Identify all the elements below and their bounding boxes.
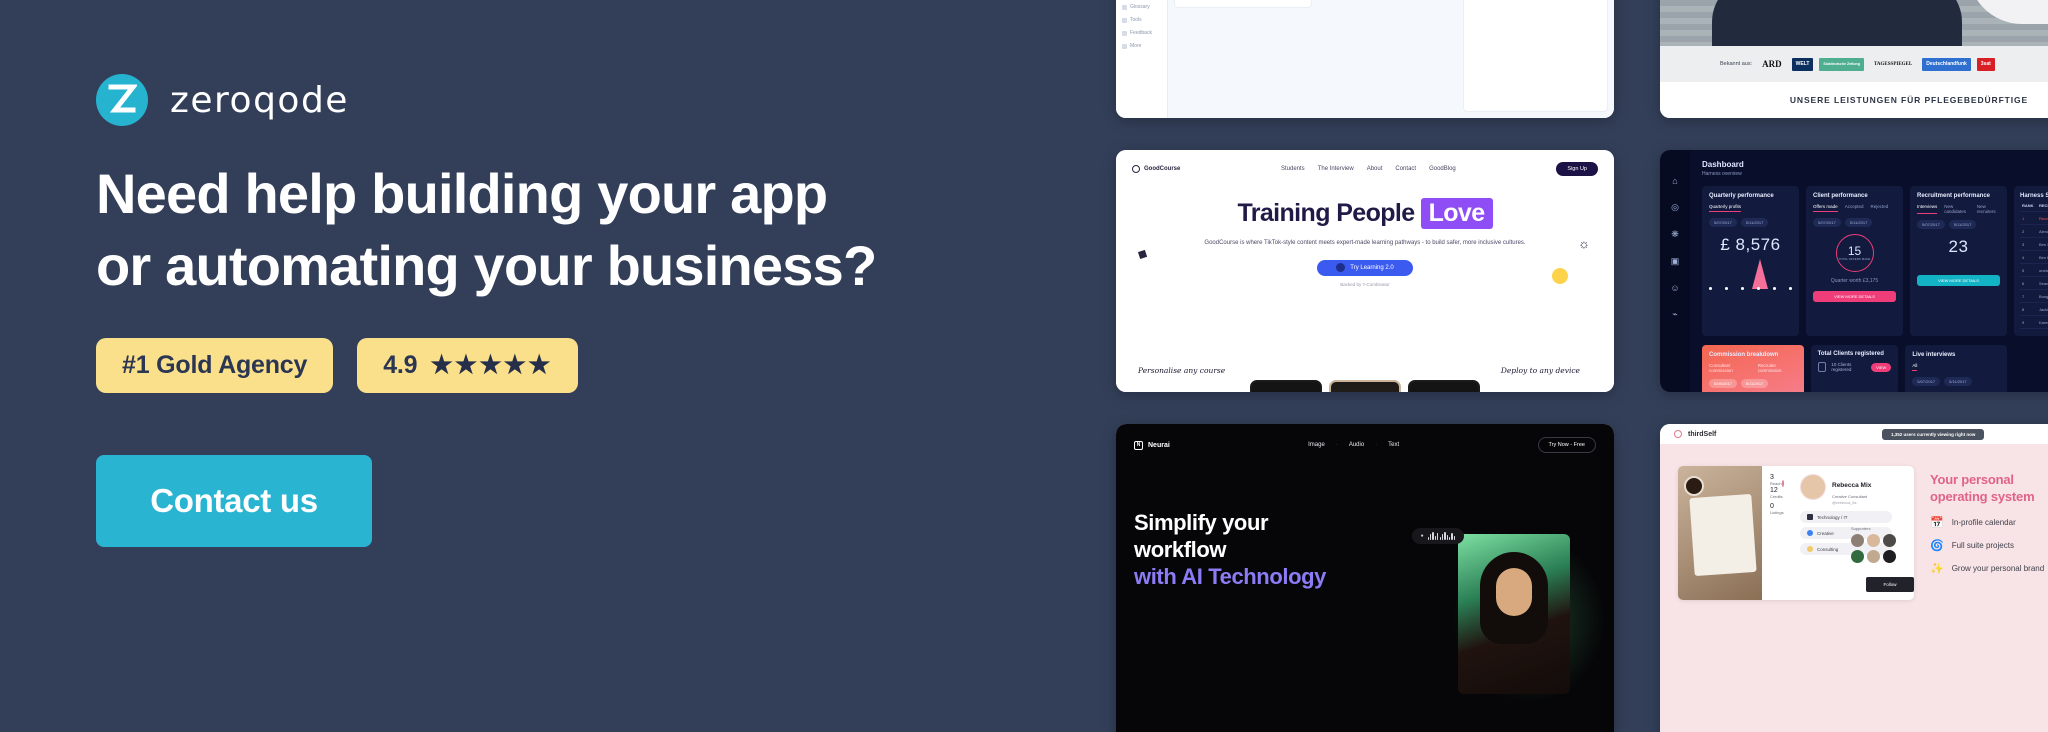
nav-link[interactable]: Students bbox=[1281, 166, 1305, 172]
calendar-icon: 📅 bbox=[1930, 516, 1944, 529]
date-pill[interactable]: 5/11/2017 bbox=[1949, 220, 1977, 229]
card-client-performance: Client performance Offers made Accepted … bbox=[1806, 186, 1903, 336]
thirdself-copy: Your personal operating system 📅 In-prof… bbox=[1930, 466, 2048, 600]
tab[interactable]: Quarterly profits bbox=[1709, 204, 1741, 212]
card-total-clients: Total Clients registered 10 Clients regi… bbox=[1811, 345, 1899, 392]
portrait-image bbox=[1458, 534, 1570, 694]
dashboard-title: Dashboard bbox=[1702, 160, 2048, 169]
neurai-mark-icon: N bbox=[1134, 441, 1143, 450]
table-row: 6Sean bbox=[2020, 277, 2048, 290]
date-pill[interactable]: 5/07/2017 bbox=[1917, 220, 1945, 229]
date-pill[interactable]: 5/11/2017 bbox=[1741, 379, 1769, 388]
tab[interactable]: Rejected bbox=[1870, 204, 1888, 212]
desk-photo bbox=[1678, 466, 1762, 600]
annotation-personalise: Personalise any course bbox=[1138, 366, 1225, 376]
card-recruitment-performance: Recruitment performance Interviews New c… bbox=[1910, 186, 2007, 336]
press-logo-ard: ARD bbox=[1758, 58, 1786, 71]
date-pill[interactable]: 5/07/2017 bbox=[1709, 218, 1737, 227]
pflege-section-title: UNSERE LEISTUNGEN FÜR PFLEGEBEDÜRFTIGE bbox=[1660, 82, 2048, 118]
press-logo-sz: Süddeutsche Zeitung bbox=[1819, 58, 1864, 71]
thirdself-headline: Your personal operating system bbox=[1930, 472, 2048, 506]
neurai-logo[interactable]: N Neurai bbox=[1134, 441, 1170, 450]
goodcourse-nav-links: Students The Interview About Contact Goo… bbox=[1281, 166, 1456, 172]
tab[interactable]: New recruiters bbox=[1977, 204, 2000, 214]
chart-icon[interactable]: ⌁ bbox=[1672, 309, 1677, 320]
phone-mockup bbox=[1329, 380, 1401, 392]
feature-item: ✨ Grow your personal brand bbox=[1930, 562, 2048, 575]
tag[interactable]: Technology / IT bbox=[1800, 511, 1892, 523]
metric-value: £ 8,576 bbox=[1709, 235, 1792, 255]
circle-icon bbox=[1782, 480, 1784, 487]
date-pill[interactable]: 5/09/2017 bbox=[1709, 379, 1737, 388]
profile-handle: @rebecca_its bbox=[1832, 500, 1871, 505]
tab[interactable]: All bbox=[1912, 363, 1917, 371]
known-from-label: Bekannt aus: bbox=[1720, 61, 1752, 67]
phone-mockup: Conscious Inclusion bbox=[1408, 380, 1480, 392]
date-pill[interactable]: 5/07/2017 bbox=[1912, 377, 1940, 386]
portfolio-showcase: Glossary Tools Feedback More Meta$0.87~ … bbox=[1116, 0, 2048, 732]
lightbulb-icon: ☼ bbox=[1578, 236, 1590, 251]
sparkle-icon: ✨ bbox=[1930, 562, 1944, 575]
play-icon bbox=[1336, 263, 1345, 272]
network-icon[interactable]: ❋ bbox=[1671, 229, 1679, 240]
tab[interactable]: Interviews bbox=[1917, 204, 1937, 214]
dashboard-cards-row-2: Commission breakdown Consultant commissi… bbox=[1702, 345, 2048, 392]
people-icon[interactable]: ☺ bbox=[1670, 283, 1679, 293]
portfolio-card-neurai[interactable]: N Neurai Image · Audio · Text Try Now - … bbox=[1116, 424, 1614, 732]
try-learning-button[interactable]: Try Learning 2.0 bbox=[1317, 260, 1413, 276]
feature-item: 🌀 Full suite projects bbox=[1930, 539, 2048, 552]
view-badge[interactable]: VIEW bbox=[1871, 363, 1891, 372]
card-live-interviews: Live interviews All 5/07/2017 5/11/2017 … bbox=[1905, 345, 2007, 392]
badge-rating: 4.9 ★★★★★ bbox=[357, 338, 578, 393]
crypto-sidebar-item[interactable]: More bbox=[1122, 43, 1161, 49]
date-pill[interactable]: 5/11/2017 bbox=[1944, 377, 1972, 386]
zeroqode-mark-icon bbox=[96, 74, 148, 126]
table-row: 5oneta bbox=[2020, 264, 2048, 277]
crypto-sidebar: Glossary Tools Feedback More bbox=[1116, 0, 1168, 118]
circle-icon bbox=[1674, 430, 1682, 438]
profile-stats: 3 Reach 12 Credits 0 Listings bbox=[1770, 474, 1796, 516]
crypto-latest-transactions: Latest transactions No activity yet bbox=[1174, 0, 1312, 8]
spiral-icon: 🌀 bbox=[1930, 539, 1944, 552]
live-viewers-notice: 1,352 users currently viewing right now bbox=[1882, 429, 1984, 440]
waveform-icon bbox=[1428, 532, 1455, 540]
nav-link[interactable]: Image bbox=[1308, 442, 1325, 448]
headline-highlight: Love bbox=[1421, 198, 1493, 229]
table-row: 3Ben S. bbox=[2020, 238, 2048, 251]
feature-item: 📅 In-profile calendar bbox=[1930, 516, 2048, 529]
sparkline-chart bbox=[1709, 259, 1792, 293]
press-logos-bar: Bekannt aus: ARD WELT Süddeutsche Zeitun… bbox=[1660, 46, 2048, 82]
neurai-navbar: N Neurai Image · Audio · Text Try Now - … bbox=[1134, 437, 1596, 453]
neurai-nav-links: Image · Audio · Text bbox=[1308, 442, 1399, 448]
nav-link[interactable]: Audio bbox=[1349, 442, 1364, 448]
thirdself-navbar: thirdSelf 1,352 users currently viewing … bbox=[1660, 424, 2048, 444]
tab[interactable]: Offers made bbox=[1813, 204, 1838, 212]
badge-gold-agency-label: #1 Gold Agency bbox=[122, 351, 307, 380]
annotation-deploy: Deploy to any device bbox=[1501, 366, 1580, 376]
rating-value: 4.9 bbox=[383, 351, 417, 380]
table-row: 4Ben B. bbox=[2020, 251, 2048, 264]
portfolio-card-crypto[interactable]: Glossary Tools Feedback More Meta$0.87~ … bbox=[1116, 0, 1614, 118]
avatar bbox=[1800, 474, 1826, 500]
supporter-avatars bbox=[1851, 534, 1896, 563]
table-row: 9Karen bbox=[2020, 316, 2048, 329]
dashboard-sidebar: ⌂ ◎ ❋ ▣ ☺ ⌁ bbox=[1660, 150, 1690, 392]
view-details-button[interactable]: VIEW MORE DETAILS bbox=[1813, 291, 1896, 302]
page-title: Need help building your app or automatin… bbox=[96, 166, 1110, 294]
supporters-block: Supporters bbox=[1851, 526, 1896, 563]
table-row: 1Recruiter 1 bbox=[2020, 212, 2048, 225]
goodcourse-headline: Training People Love bbox=[1237, 198, 1492, 229]
portfolio-card-dashboard[interactable]: ⌂ ◎ ❋ ▣ ☺ ⌁ Dashboard Harness overview Q… bbox=[1660, 150, 2048, 392]
press-logo-deutschlandfunk: Deutschlandfunk bbox=[1922, 58, 1971, 71]
press-logo-welt: WELT bbox=[1792, 58, 1814, 71]
table-header: RANK RECRUITER bbox=[2020, 199, 2048, 212]
donut-chart: 15 TOTAL OFFERS MADE bbox=[1836, 234, 1874, 272]
audio-waveform-widget: ● bbox=[1412, 528, 1464, 544]
star-rating-icon: ★★★★★ bbox=[430, 353, 552, 378]
tab[interactable]: Consultant commission bbox=[1709, 363, 1751, 373]
goodcourse-hero: Training People Love GoodCourse is where… bbox=[1132, 198, 1598, 287]
briefcase-icon[interactable]: ▣ bbox=[1671, 256, 1680, 267]
portfolio-card-thirdself[interactable]: thirdSelf 1,352 users currently viewing … bbox=[1660, 424, 2048, 732]
dashboard-subtitle: Harness overview bbox=[1702, 171, 2048, 177]
crypto-sidebar-item[interactable]: Tools bbox=[1122, 17, 1161, 23]
crypto-sidebar-item[interactable]: Feedback bbox=[1122, 30, 1161, 36]
circle-icon bbox=[1132, 165, 1140, 173]
contact-us-button[interactable]: Contact us bbox=[96, 455, 372, 547]
try-now-button[interactable]: Try Now - Free bbox=[1538, 437, 1596, 453]
profile-name: Rebecca Mix bbox=[1832, 482, 1871, 489]
badge-gold-agency: #1 Gold Agency bbox=[96, 338, 333, 393]
nav-link[interactable]: Text bbox=[1388, 442, 1399, 448]
press-logo-tagesspiegel: TAGESSPIEGEL bbox=[1870, 58, 1916, 71]
portfolio-card-goodcourse[interactable]: GoodCourse Students The Interview About … bbox=[1116, 150, 1614, 392]
avatar bbox=[1550, 266, 1570, 286]
badge-group: #1 Gold Agency 4.9 ★★★★★ bbox=[96, 338, 1110, 393]
date-pill[interactable]: 5/11/2017 bbox=[1741, 218, 1769, 227]
brand-logo[interactable]: zeroqode bbox=[96, 74, 1110, 126]
landing-page: zeroqode Need help building your app or … bbox=[0, 0, 2048, 732]
table-row: 7Bungo bbox=[2020, 290, 2048, 303]
headline-line-2: or automating your business? bbox=[96, 238, 1110, 294]
quarter-worth-note: Quarter worth £3,175 bbox=[1813, 278, 1896, 284]
brand-name: zeroqode bbox=[170, 80, 349, 121]
profile-role: Creative Consultant bbox=[1832, 494, 1871, 499]
dot-separator: · bbox=[1375, 442, 1377, 448]
card-commission-breakdown: Commission breakdown Consultant commissi… bbox=[1702, 345, 1804, 392]
backed-by-label: Backed by Y-Combinator bbox=[1132, 282, 1598, 287]
press-logo-3sat: 3sat bbox=[1977, 58, 1995, 71]
home-icon[interactable]: ⌂ bbox=[1672, 176, 1677, 186]
metric-value: 23 bbox=[1917, 237, 2000, 257]
phone-mockup: Conscious Inclusion bbox=[1250, 380, 1322, 392]
table-row: 8Jackie bbox=[2020, 303, 2048, 316]
follow-button[interactable]: Follow bbox=[1866, 577, 1914, 592]
harness-score-table: Harness Score RANK RECRUITER 1Recruiter … bbox=[2014, 186, 2048, 336]
card-quarterly-performance: Quarterly performance Quarterly profits … bbox=[1702, 186, 1799, 336]
nav-link[interactable]: The Interview bbox=[1318, 166, 1354, 172]
date-pill[interactable]: 5/07/2017 bbox=[1813, 218, 1841, 227]
profile-card: 3 Reach 12 Credits 0 Listings bbox=[1678, 466, 1914, 600]
nav-link[interactable]: About bbox=[1367, 166, 1383, 172]
thirdself-logo[interactable]: thirdSelf bbox=[1688, 431, 1716, 438]
profile-actions: Follow Book me Message bbox=[1866, 577, 1914, 592]
profile-header: Rebecca Mix Creative Consultant @rebecca… bbox=[1800, 474, 1906, 505]
briefcase-icon bbox=[1818, 362, 1827, 372]
tab[interactable]: Accepted bbox=[1845, 204, 1864, 212]
goodcourse-subtitle: GoodCourse is where TikTok-style content… bbox=[1132, 238, 1598, 249]
portfolio-card-pflege[interactable]: Bekannt aus: ARD WELT Süddeutsche Zeitun… bbox=[1660, 0, 2048, 118]
dashboard-cards-row: Quarterly performance Quarterly profits … bbox=[1702, 186, 2048, 336]
neurai-headline: Simplify your workflow with AI Technolog… bbox=[1134, 510, 1326, 590]
signup-button[interactable]: Sign Up bbox=[1556, 162, 1598, 176]
phone-mockups: Conscious Inclusion Conscious Inclusion bbox=[1116, 380, 1614, 392]
microphone-icon: ● bbox=[1421, 533, 1424, 539]
view-details-button[interactable]: VIEW MORE DETAILS bbox=[1917, 275, 2000, 286]
crypto-sidebar-item[interactable]: Glossary bbox=[1122, 4, 1161, 10]
target-icon[interactable]: ◎ bbox=[1671, 202, 1679, 213]
headline-line-1: Need help building your app bbox=[96, 166, 1110, 222]
date-pill[interactable]: 5/11/2017 bbox=[1845, 218, 1873, 227]
nav-link[interactable]: Contact bbox=[1395, 166, 1416, 172]
tab[interactable]: New candidates bbox=[1944, 204, 1970, 214]
hero-section: zeroqode Need help building your app or … bbox=[0, 0, 1110, 732]
dot-separator: · bbox=[1336, 442, 1338, 448]
empty-state: No activity yet bbox=[1181, 0, 1305, 1]
table-row: 2Alexandra bbox=[2020, 225, 2048, 238]
care-photo bbox=[1660, 0, 2048, 46]
crypto-news-panel: Top crypto news •Here are the Top 5 Chat… bbox=[1463, 0, 1608, 112]
tab[interactable]: Recruiter commission bbox=[1758, 363, 1797, 373]
goodcourse-logo[interactable]: GoodCourse bbox=[1132, 165, 1180, 173]
goodcourse-navbar: GoodCourse Students The Interview About … bbox=[1132, 162, 1598, 176]
nav-link[interactable]: GoodBlog bbox=[1429, 166, 1456, 172]
